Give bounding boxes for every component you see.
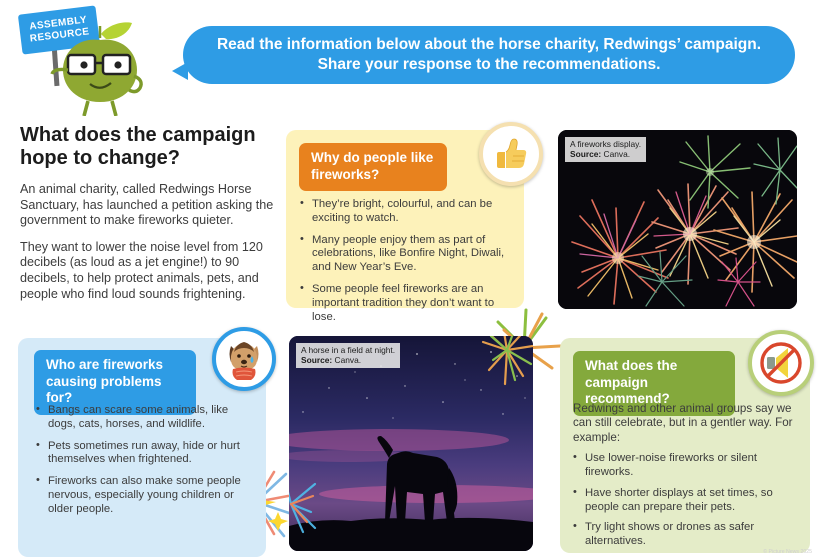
assembly-resource-poster: ASSEMBLY RESOURCE Read the information b…	[0, 0, 818, 557]
list-item: Some people feel fireworks are an import…	[300, 283, 512, 324]
card-recommend-body: Redwings and other animal groups say we …	[573, 402, 797, 556]
fireworks-photo-caption: A fireworks display. Source: Canva.	[565, 137, 646, 162]
list-item: Have shorter displays at set times, so p…	[573, 487, 797, 515]
no-sound-icon	[756, 338, 806, 388]
lead-paragraph: They want to lower the noise level from …	[20, 240, 278, 302]
horse-in-field-at-night-photo: A horse in a field at night. Source: Can…	[289, 336, 533, 551]
caption-text: A fireworks display.	[570, 139, 641, 149]
page-title: What does the campaign hope to change?	[20, 124, 270, 170]
apple-mascot-icon	[8, 4, 168, 116]
instruction-speech-bubble: Read the information below about the hor…	[183, 26, 795, 84]
horse-photo-caption: A horse in a field at night. Source: Can…	[296, 343, 400, 368]
caption-source-label: Source:	[570, 149, 601, 159]
caption-source-label: Source:	[301, 355, 332, 365]
lead-body: An animal charity, called Redwings Horse…	[20, 182, 278, 313]
list-item: Many people enjoy them as part of celebr…	[300, 234, 512, 275]
thumbs-up-icon	[491, 134, 531, 174]
list-item: Try light shows or drones as safer alter…	[573, 521, 797, 549]
card-title-like: Why do people like fireworks?	[299, 143, 447, 191]
instruction-text: Read the information below about the hor…	[183, 35, 795, 75]
thumbs-up-badge	[479, 122, 543, 186]
list-item: Use lower-noise fireworks or silent fire…	[573, 452, 797, 480]
list-item: Pets sometimes run away, hide or hurt th…	[36, 440, 252, 468]
mascot-illustration: ASSEMBLY RESOURCE	[8, 4, 168, 116]
sad-dog-icon	[221, 336, 267, 382]
caption-source-value: Canva.	[604, 149, 631, 159]
caption-text: A horse in a field at night.	[301, 345, 395, 355]
list-item: Bangs can scare some animals, like dogs,…	[36, 404, 252, 432]
lead-paragraph: An animal charity, called Redwings Horse…	[20, 182, 278, 229]
card-like-bullet-list: They’re bright, colourful, and can be ex…	[300, 198, 512, 332]
fireworks-display-photo: A fireworks display. Source: Canva.	[558, 130, 797, 309]
card-recommend-intro: Redwings and other animal groups say we …	[573, 402, 797, 445]
no-sound-badge	[748, 330, 814, 396]
list-item: They’re bright, colourful, and can be ex…	[300, 198, 512, 226]
caption-source-value: Canva.	[335, 355, 362, 365]
card-recommend-bullet-list: Use lower-noise fireworks or silent fire…	[573, 452, 797, 549]
copyright-footer: © Picture News 2025	[763, 549, 812, 555]
card-problems-bullet-list: Bangs can scare some animals, like dogs,…	[36, 404, 252, 525]
list-item: Fireworks can also make some people nerv…	[36, 475, 252, 516]
sad-dog-badge	[212, 327, 276, 391]
